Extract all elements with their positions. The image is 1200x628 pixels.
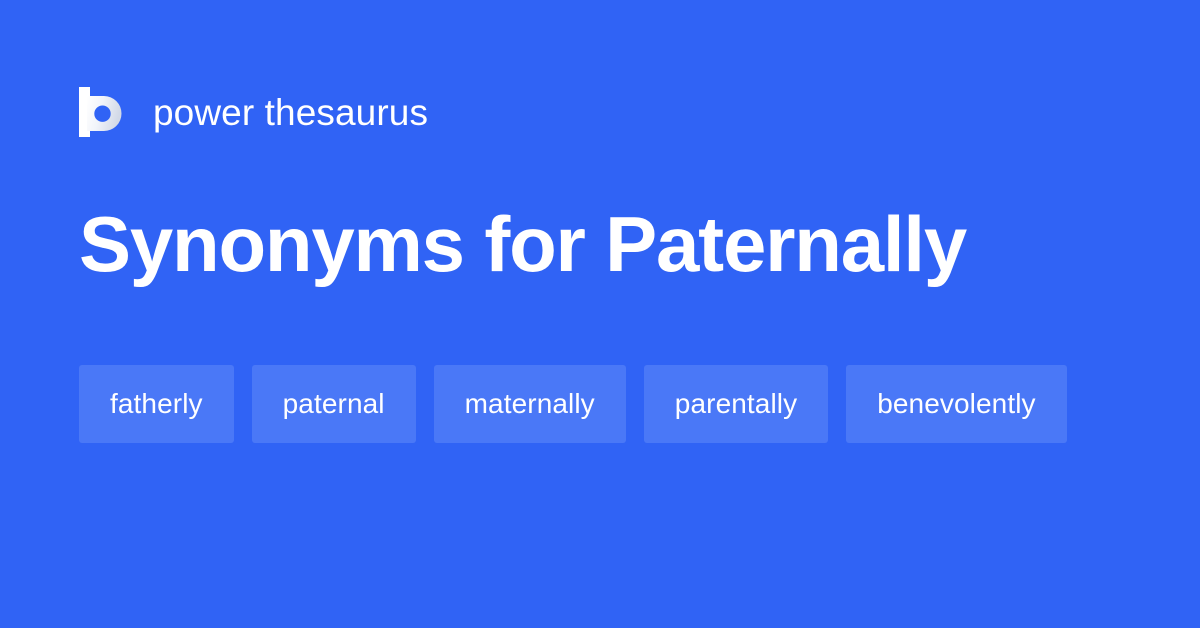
synonym-chip[interactable]: maternally [434,365,626,443]
power-thesaurus-b-logo-icon [79,87,125,137]
synonym-chip[interactable]: paternal [252,365,416,443]
brand-logo[interactable]: power thesaurus [79,84,428,140]
synonym-chip[interactable]: fatherly [79,365,234,443]
synonym-chip[interactable]: benevolently [846,365,1066,443]
synonym-chip[interactable]: parentally [644,365,828,443]
synonym-chip-list: fatherly paternal maternally parentally … [79,365,1121,443]
synonyms-share-card: power thesaurus Synonyms for Paternally … [0,0,1200,628]
brand-name: power thesaurus [153,94,428,131]
page-title: Synonyms for Paternally [79,196,966,292]
